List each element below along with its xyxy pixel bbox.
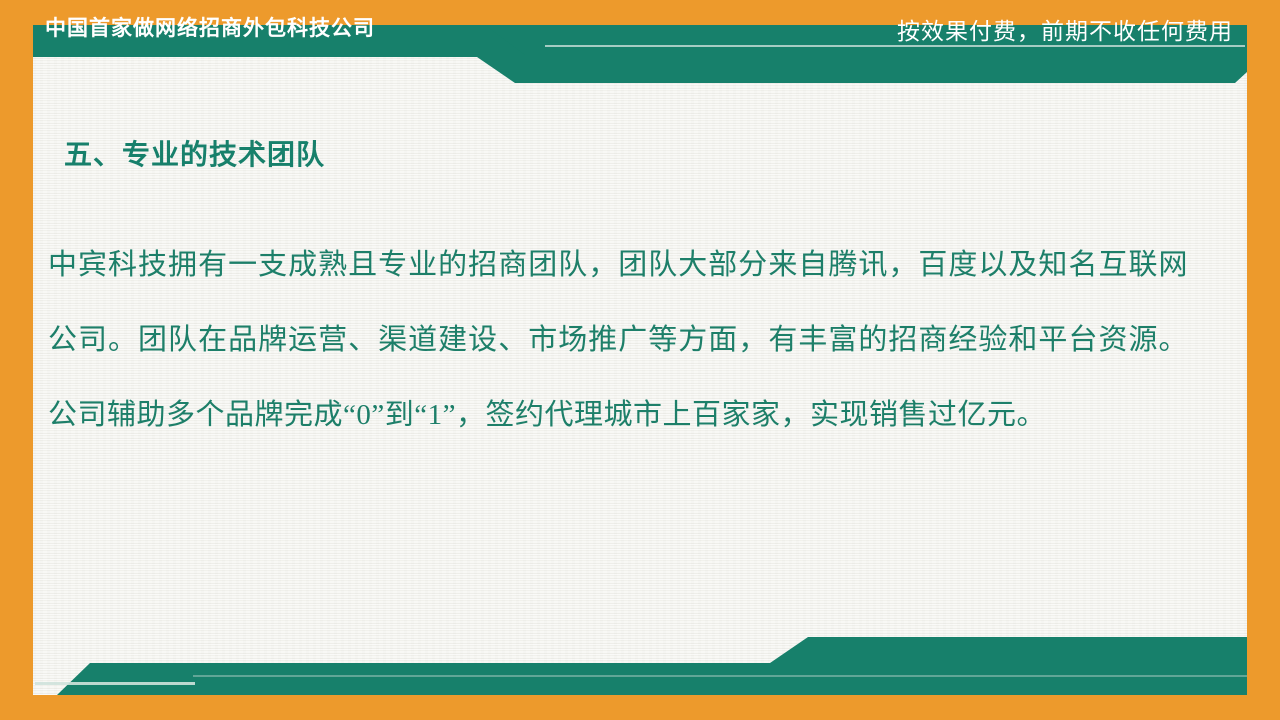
footer-banner — [33, 637, 1247, 695]
footer-tagline: 按效果付费，前期不收任何费用 — [897, 12, 1233, 46]
footer-accent-line — [35, 682, 195, 685]
header-title: 中国首家做网络招商外包科技公司 — [45, 0, 375, 58]
slide-root: 中国首家做网络招商外包科技公司 五、专业的技术团队 中宾科技拥有一支成熟且专业的… — [0, 0, 1280, 720]
footer-accent-line-secondary — [193, 675, 1247, 677]
section-heading: 五、专业的技术团队 — [64, 133, 325, 173]
body-paragraph: 中宾科技拥有一支成熟且专业的招商团队，团队大部分来自腾讯，百度以及知名互联网公司… — [48, 228, 1188, 453]
footer-banner-shape — [33, 637, 1247, 695]
